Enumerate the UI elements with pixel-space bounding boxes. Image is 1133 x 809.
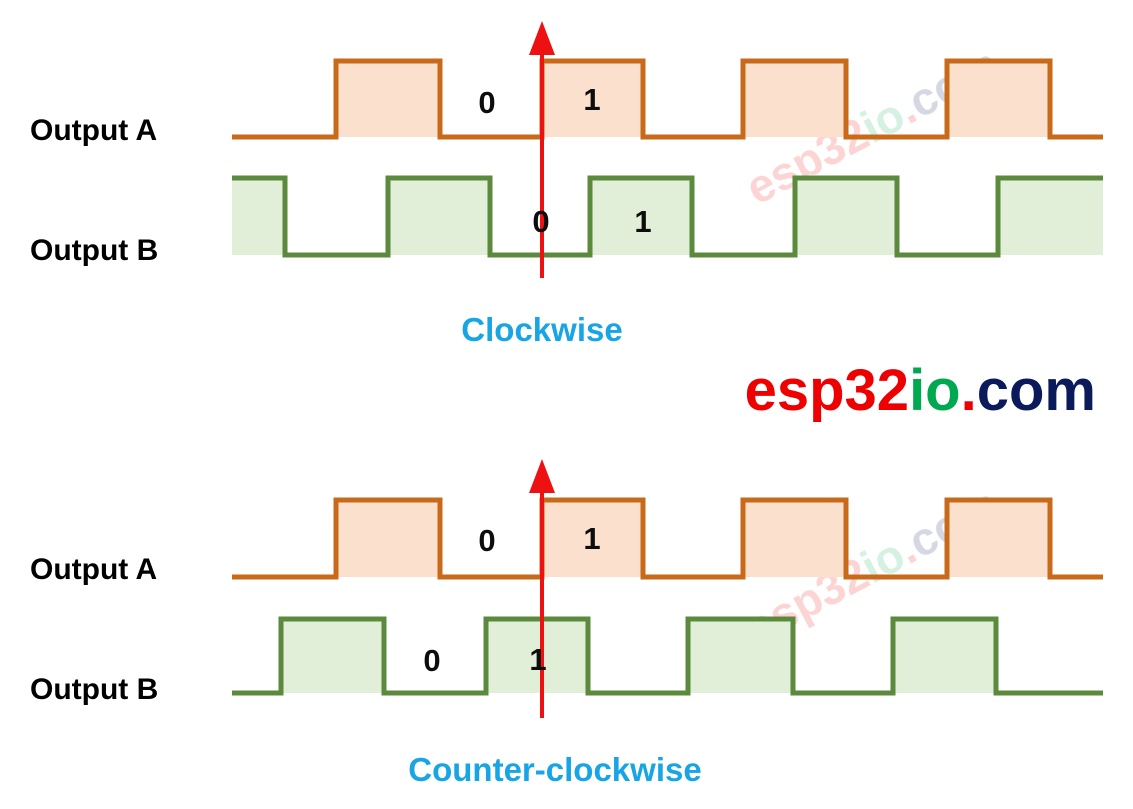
bit-label-b-cw-0: 0 — [532, 204, 549, 239]
logo-part-io: io — [909, 358, 961, 423]
diagram-canvas: esp32io.com esp32io.com — [0, 0, 1133, 809]
bit-label-b-ccw-1: 1 — [529, 642, 546, 677]
label-output-a-clockwise: Output A — [30, 114, 157, 147]
direction-label-clockwise: Clockwise — [461, 311, 622, 348]
waveform-output-b-counter-clockwise — [232, 619, 1103, 693]
waveform-a-cw-fill — [232, 61, 1103, 137]
waveform-output-a-counter-clockwise — [232, 500, 1103, 577]
bit-label-b-cw-1: 1 — [634, 204, 651, 239]
direction-label-counter-clockwise: Counter-clockwise — [408, 751, 701, 788]
bit-label-a-ccw-0: 0 — [478, 523, 495, 558]
encoder-waveform-diagram: esp32io.com esp32io.com — [0, 0, 1133, 809]
label-output-b-counter-clockwise: Output B — [30, 673, 158, 706]
marker-arrowhead-ccw — [529, 459, 555, 493]
waveform-a-ccw-fill — [232, 500, 1103, 577]
logo-part-esp32: esp32 — [745, 358, 909, 423]
waveform-b-ccw-fill — [232, 619, 1103, 693]
label-output-a-counter-clockwise: Output A — [30, 553, 157, 586]
bit-label-a-cw-1: 1 — [583, 82, 600, 117]
bit-label-a-cw-0: 0 — [478, 85, 495, 120]
waveform-output-a-clockwise — [232, 61, 1103, 137]
logo-part-com: com — [977, 358, 1096, 423]
label-output-b-clockwise: Output B — [30, 234, 158, 267]
waveform-output-b-clockwise — [232, 178, 1103, 255]
bit-label-b-ccw-0: 0 — [423, 643, 440, 678]
logo-part-dot: . — [961, 358, 977, 423]
marker-arrowhead-cw — [529, 21, 555, 55]
waveform-b-cw-fill — [232, 178, 1103, 255]
site-logo: esp32io.com — [745, 358, 1096, 423]
bit-label-a-ccw-1: 1 — [583, 521, 600, 556]
